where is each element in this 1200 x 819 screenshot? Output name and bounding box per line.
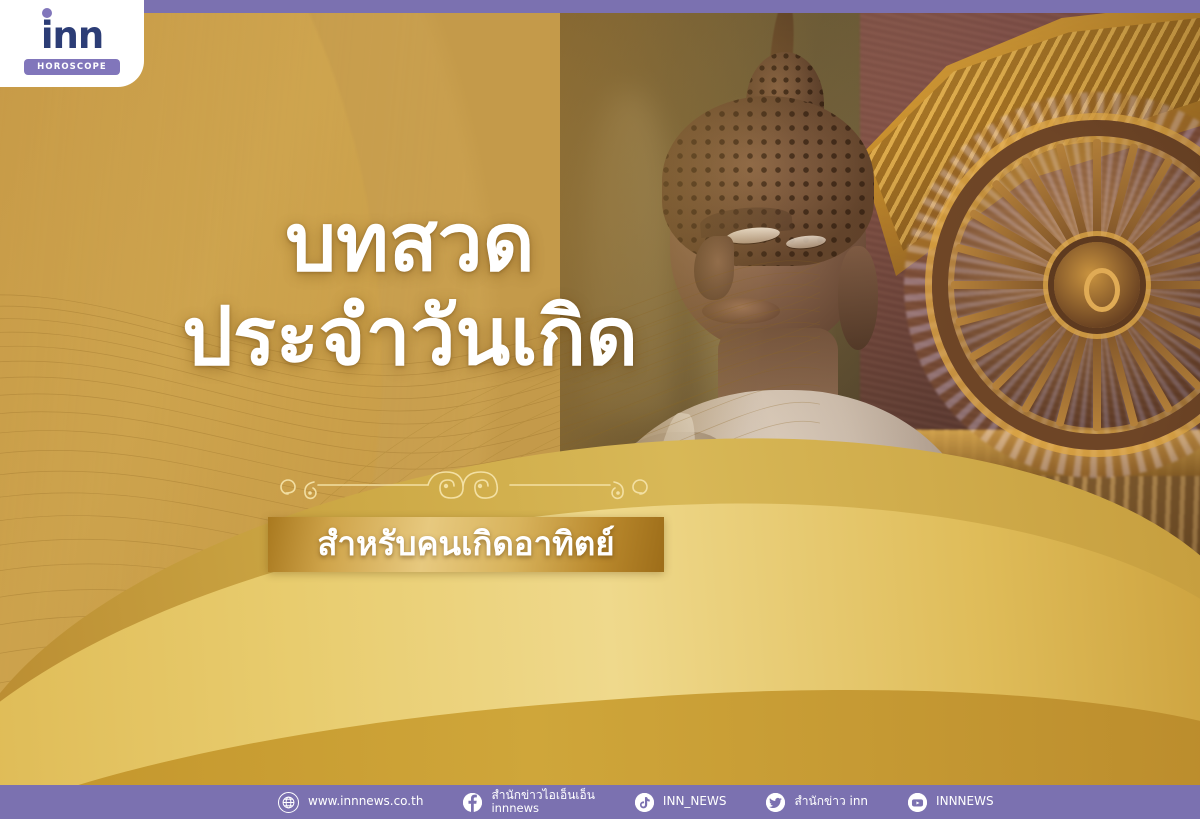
footer-item-twitter[interactable]: สำนักข่าว inn: [766, 793, 868, 812]
footer-label-website: www.innnews.co.th: [308, 795, 423, 808]
logo-wordmark: inn: [41, 17, 103, 54]
footer-item-facebook[interactable]: สำนักข่าวไอเอ็นเอ็น innnews: [463, 789, 594, 815]
globe-icon: [278, 792, 299, 813]
youtube-icon: [908, 793, 927, 812]
subtitle-badge: สำหรับคนเกิดอาทิตย์: [268, 517, 664, 572]
tiktok-icon: [635, 793, 654, 812]
footer-bar: www.innnews.co.th สำนักข่าวไอเอ็นเอ็น in…: [0, 785, 1200, 819]
logo-text: inn: [41, 14, 103, 57]
title-line-2: ประจำวันเกิด: [40, 290, 780, 384]
page-title: บทสวด ประจำวันเกิด: [40, 196, 780, 385]
inn-horoscope-logo[interactable]: inn HOROSCOPE: [0, 0, 144, 87]
footer-label-youtube: INNNEWS: [936, 795, 994, 808]
footer-item-website[interactable]: www.innnews.co.th: [278, 792, 423, 813]
flourish-divider-icon: [258, 466, 670, 510]
footer-item-tiktok[interactable]: INN_NEWS: [635, 793, 727, 812]
logo-dot-icon: [42, 8, 52, 18]
footer-label-facebook-line1: สำนักข่าวไอเอ็นเอ็น: [491, 788, 594, 802]
top-purple-bar: [0, 0, 1200, 13]
logo-horoscope-badge: HOROSCOPE: [24, 59, 120, 75]
poster-canvas: inn HOROSCOPE บทสวด ประจำวันเกิด: [0, 0, 1200, 819]
footer-label-tiktok: INN_NEWS: [663, 795, 727, 808]
subtitle-text: สำหรับคนเกิดอาทิตย์: [317, 527, 614, 560]
footer-label-twitter: สำนักข่าว inn: [794, 795, 868, 808]
footer-item-youtube[interactable]: INNNEWS: [908, 793, 994, 812]
footer-label-facebook-line2: innnews: [491, 802, 594, 815]
footer-social-list: www.innnews.co.th สำนักข่าวไอเอ็นเอ็น in…: [278, 789, 1034, 815]
facebook-icon: [463, 793, 482, 812]
footer-label-facebook: สำนักข่าวไอเอ็นเอ็น innnews: [491, 789, 594, 815]
title-line-1: บทสวด: [40, 196, 780, 290]
twitter-icon: [766, 793, 785, 812]
